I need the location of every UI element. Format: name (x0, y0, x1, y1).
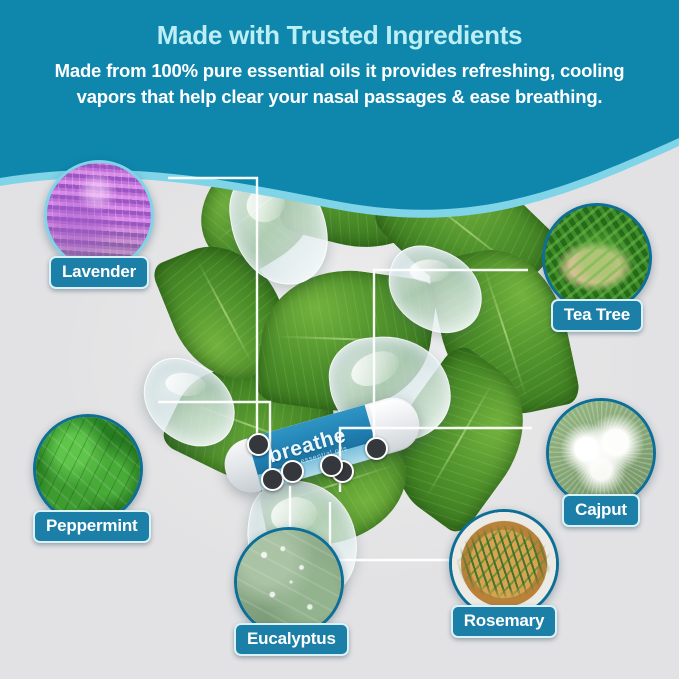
ingredient-badge-rosemary[interactable]: Rosemary (449, 509, 559, 638)
page-subtitle-line2: vapors that help clear your nasal passag… (10, 84, 669, 110)
ingredient-label-lavender: Lavender (49, 256, 149, 289)
cajput-flowers-icon (549, 401, 653, 505)
ingredient-badge-peppermint[interactable]: Peppermint (33, 414, 151, 543)
callout-dot-rosemary (320, 454, 343, 477)
peppermint-leaves-icon (36, 417, 140, 521)
cajput-circle-image (546, 398, 656, 508)
callout-dot-lavender (247, 433, 270, 456)
tea-tree-leaves-icon (545, 206, 649, 310)
ingredient-label-rosemary: Rosemary (451, 605, 558, 638)
ingredient-label-peppermint: Peppermint (33, 510, 151, 543)
callout-dot-eucalyptus (281, 460, 304, 483)
ingredient-label-eucalyptus: Eucalyptus (234, 623, 349, 656)
eucalyptus-circle-image (234, 527, 344, 637)
page-title: Made with Trusted Ingredients (0, 20, 679, 51)
page-subtitle: Made from 100% pure essential oils it pr… (10, 58, 669, 110)
lavender-flowers-icon (47, 163, 151, 267)
rosemary-sprigs-icon (452, 512, 556, 616)
ingredients-infographic: breathe pure essential oils (0, 0, 679, 679)
ingredient-badge-tea-tree[interactable]: Tea Tree (542, 203, 652, 332)
eucalyptus-leaves-icon (237, 530, 341, 634)
ingredient-badge-lavender[interactable]: Lavender (44, 160, 154, 289)
ingredient-label-cajput: Cajput (562, 494, 640, 527)
ingredient-badge-eucalyptus[interactable]: Eucalyptus (234, 527, 349, 656)
peppermint-circle-image (33, 414, 143, 524)
tea-tree-circle-image (542, 203, 652, 313)
page-subtitle-line1: Made from 100% pure essential oils it pr… (10, 58, 669, 84)
ingredient-label-tea-tree: Tea Tree (551, 299, 643, 332)
rosemary-circle-image (449, 509, 559, 619)
callout-dot-tea-tree (365, 437, 388, 460)
ingredient-badge-cajput[interactable]: Cajput (546, 398, 656, 527)
lavender-circle-image (44, 160, 154, 270)
